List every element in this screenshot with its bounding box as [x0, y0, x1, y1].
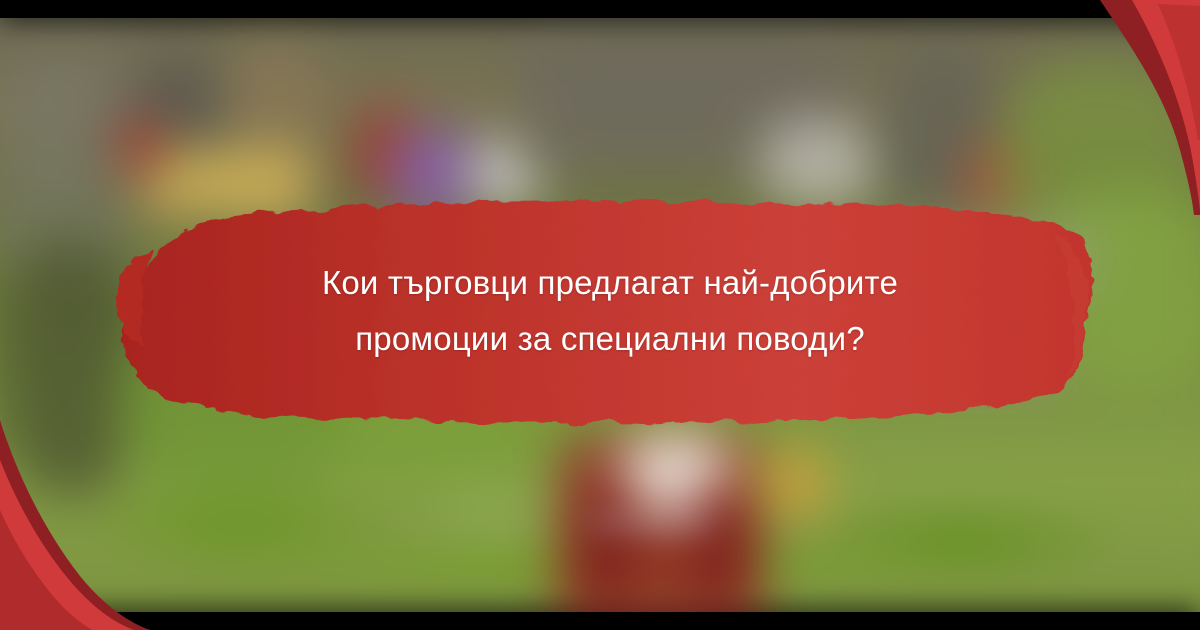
share-card: Кои търговци предлагат най-добрите промо… [0, 0, 1200, 630]
letterbox-top [0, 0, 1200, 18]
headline-text: Кои търговци предлагат най-добрите промо… [180, 255, 1040, 367]
headline-line-1: Кои търговци предлагат най-добрите [180, 255, 1040, 311]
letterbox-bottom [0, 612, 1200, 630]
headline-line-2: промоции за специални поводи? [180, 311, 1040, 367]
